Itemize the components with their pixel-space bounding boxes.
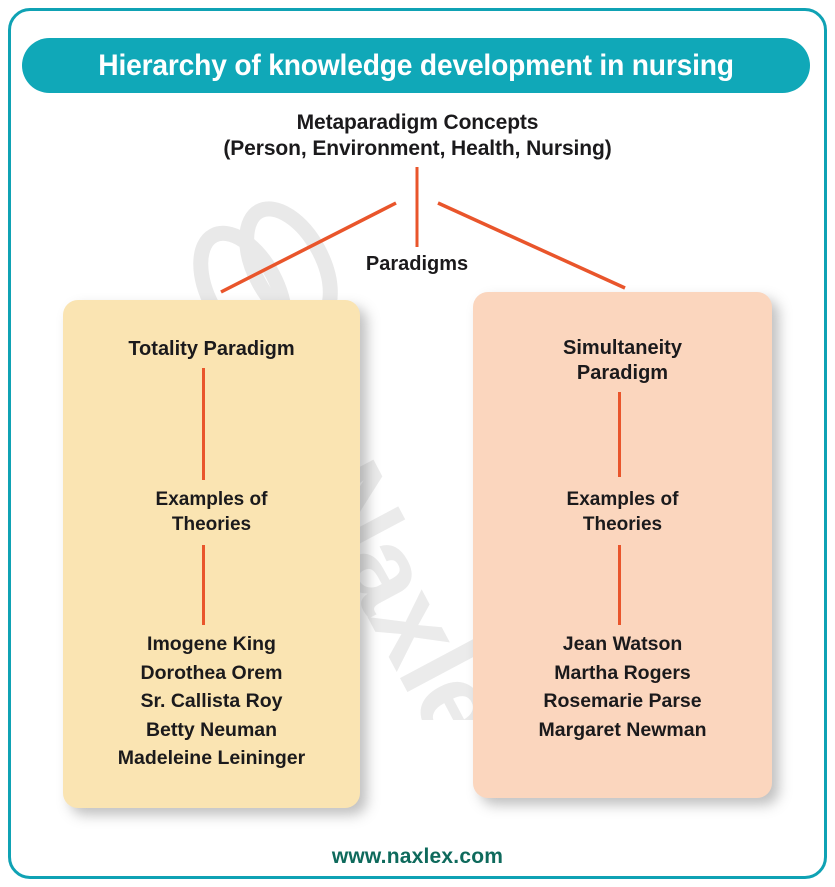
- list-item: Madeleine Leininger: [63, 744, 360, 773]
- totality-subheading-line1: Examples of: [156, 489, 268, 510]
- simultaneity-subheading: Examples of Theories: [473, 487, 772, 537]
- list-item: Rosemarie Parse: [473, 687, 772, 716]
- page-title: Hierarchy of knowledge development in nu…: [98, 49, 734, 83]
- list-item: Dorothea Orem: [63, 659, 360, 688]
- totality-connector-lower: [202, 545, 205, 625]
- list-item: Martha Rogers: [473, 659, 772, 688]
- title-banner: Hierarchy of knowledge development in nu…: [22, 38, 810, 93]
- simultaneity-connector-upper: [618, 392, 621, 477]
- totality-connector-upper: [202, 368, 205, 480]
- simultaneity-subheading-line1: Examples of: [567, 489, 679, 510]
- paradigm-box-simultaneity: Simultaneity Paradigm Examples of Theori…: [473, 292, 772, 798]
- paradigm-box-totality: Totality Paradigm Examples of Theories I…: [63, 300, 360, 808]
- metaparadigm-concepts: (Person, Environment, Health, Nursing): [0, 136, 835, 162]
- metaparadigm-title: Metaparadigm Concepts: [0, 110, 835, 136]
- simultaneity-subheading-line2: Theories: [583, 514, 662, 535]
- site-url[interactable]: www.naxlex.com: [332, 845, 503, 868]
- list-item: Imogene King: [63, 630, 360, 659]
- simultaneity-heading-line1: Simultaneity: [563, 337, 682, 359]
- totality-theorist-list: Imogene King Dorothea Orem Sr. Callista …: [63, 630, 360, 773]
- list-item: Sr. Callista Roy: [63, 687, 360, 716]
- totality-heading: Totality Paradigm: [63, 337, 360, 362]
- totality-subheading: Examples of Theories: [63, 487, 360, 537]
- simultaneity-heading: Simultaneity Paradigm: [473, 336, 772, 386]
- list-item: Jean Watson: [473, 630, 772, 659]
- footer: www.naxlex.com: [0, 845, 835, 869]
- totality-subheading-line2: Theories: [172, 514, 251, 535]
- paradigms-label: Paradigms: [300, 253, 534, 276]
- list-item: Betty Neuman: [63, 716, 360, 745]
- simultaneity-heading-line2: Paradigm: [577, 362, 668, 384]
- metaparadigm-node: Metaparadigm Concepts (Person, Environme…: [0, 110, 835, 162]
- simultaneity-connector-lower: [618, 545, 621, 625]
- simultaneity-theorist-list: Jean Watson Martha Rogers Rosemarie Pars…: [473, 630, 772, 744]
- list-item: Margaret Newman: [473, 716, 772, 745]
